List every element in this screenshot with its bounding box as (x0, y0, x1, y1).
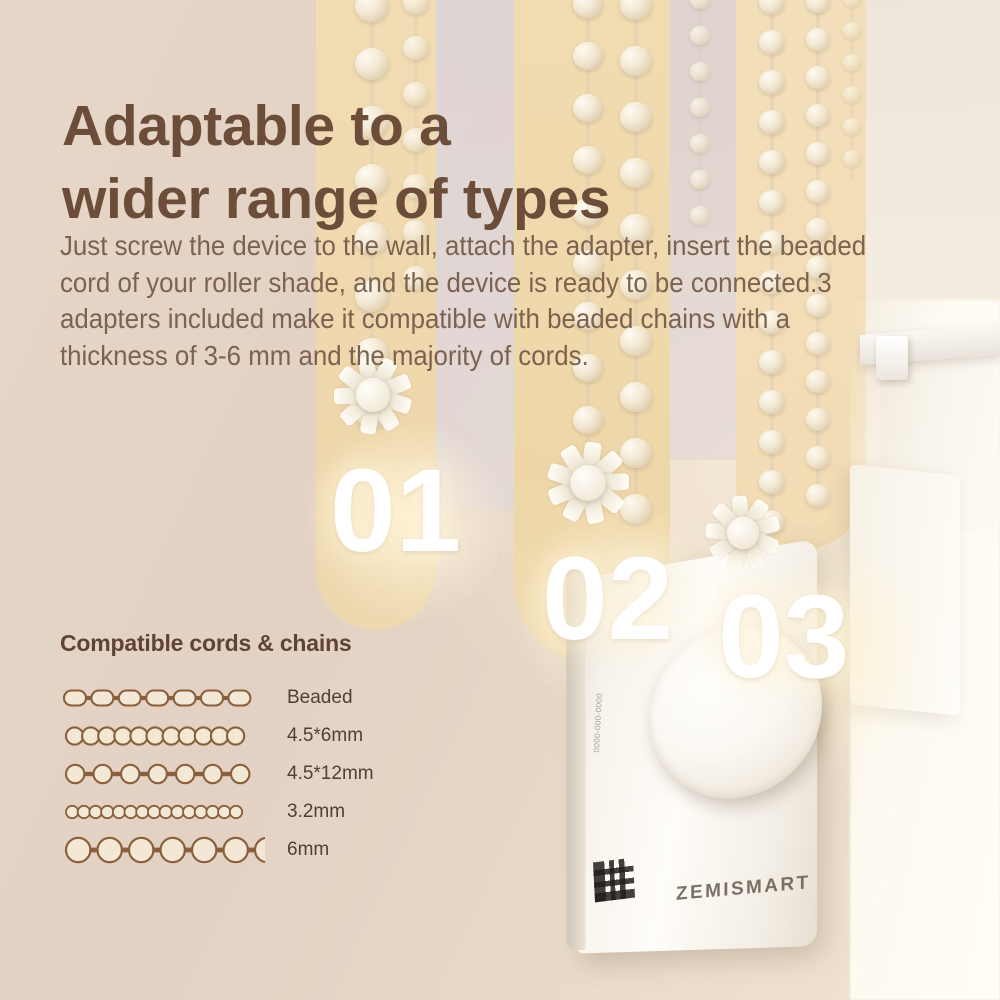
chain-bead (806, 484, 830, 507)
chain-diagram-tiny-circles (60, 793, 265, 831)
compatibility-rows: Beaded4.5*6mm4.5*12mm3.2mm6mm (60, 679, 460, 869)
chain-bead (843, 150, 861, 167)
compatibility-label: 3.2mm (287, 801, 345, 823)
compatibility-row: 4.5*12mm (60, 755, 460, 793)
qr-code-icon (593, 858, 635, 903)
step-number-03: 03 (718, 578, 849, 696)
product-marketing-image: 0000-000-0000 ZEMISMART Adaptable to a w… (0, 0, 1000, 1000)
compatibility-row: Beaded (60, 679, 460, 717)
chain-diagram-touching-circles (60, 717, 265, 755)
chain-bead (806, 66, 830, 89)
chain-bead (806, 104, 830, 127)
body-description-text: Just screw the device to the wall, attac… (60, 228, 880, 374)
chain-bead (843, 54, 861, 71)
chain-diagram-spaced-circles (60, 755, 265, 793)
chain-bead (355, 48, 389, 80)
step-number-02: 02 (542, 540, 673, 658)
chain-bead (843, 86, 861, 103)
chain-bead (690, 26, 710, 45)
chain-bead (843, 118, 861, 135)
chain-adapter (537, 432, 639, 534)
compatibility-label: Beaded (287, 687, 353, 709)
chain-bead (806, 408, 830, 431)
chain-bead (573, 42, 603, 70)
chain-bead (573, 406, 603, 434)
chain-diagram-large-circles (60, 831, 265, 869)
chain-diagram-oval-link (60, 679, 265, 717)
wall-panel-right (866, 0, 1000, 350)
compatibility-title: Compatible cords & chains (60, 630, 460, 657)
compatibility-section: Compatible cords & chains Beaded4.5*6mm4… (60, 630, 460, 869)
chain-bead (690, 62, 710, 81)
headline-line-2: wider range of types (62, 163, 762, 236)
compatibility-label: 4.5*12mm (287, 763, 374, 785)
chain-bead (620, 382, 652, 412)
chain-bead (806, 142, 830, 165)
chain-bead (806, 180, 830, 203)
chain-bead (620, 46, 652, 76)
compatibility-row: 6mm (60, 831, 460, 869)
compatibility-label: 6mm (287, 839, 329, 861)
compatibility-label: 4.5*6mm (287, 725, 363, 747)
wall-corner (850, 464, 960, 716)
chain-bead (806, 446, 830, 469)
chain-adapter (698, 488, 788, 578)
step-number-01: 01 (330, 452, 461, 570)
headline-line-1: Adaptable to a (62, 90, 762, 163)
compatibility-row: 3.2mm (60, 793, 460, 831)
blind-bracket (876, 336, 908, 380)
chain-bead (843, 22, 861, 39)
page-title: Adaptable to a wider range of types (62, 90, 762, 236)
chain-bead (806, 28, 830, 51)
compatibility-row: 4.5*6mm (60, 717, 460, 755)
body-description: Just screw the device to the wall, attac… (60, 228, 880, 374)
